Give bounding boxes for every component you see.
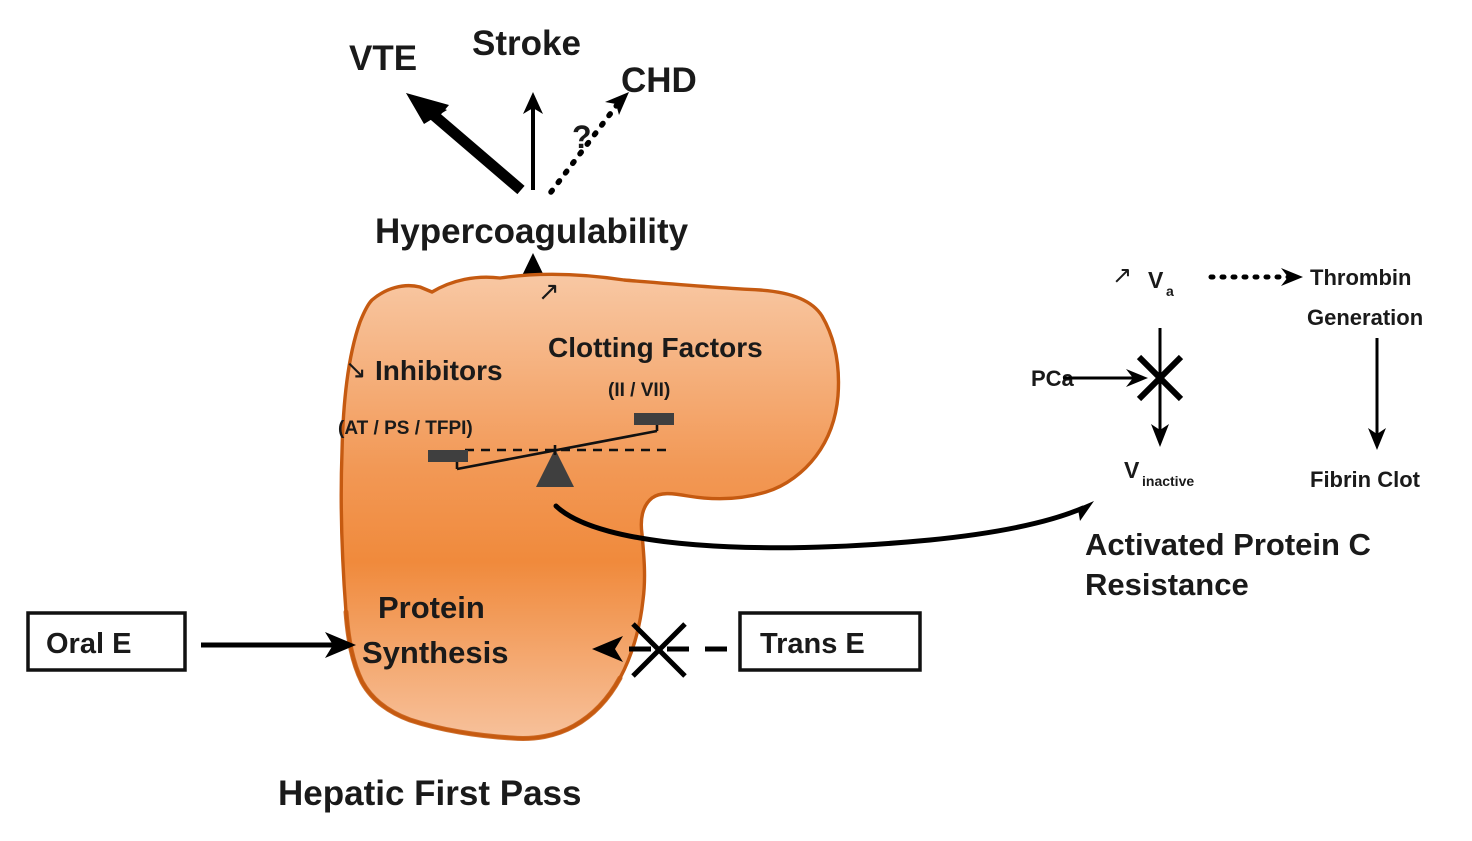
trans-e-label: Trans E [760, 628, 865, 660]
va-up-arrow: ↗ [1112, 262, 1132, 289]
thrombin-generation-line1: Thrombin [1310, 265, 1411, 290]
protein-synthesis-line2: Synthesis [362, 635, 508, 670]
thrombin-generation-line2: Generation [1307, 305, 1423, 330]
arrow-oral-e-to-protein-synthesis [201, 632, 356, 658]
v-inactive-label: V [1124, 457, 1140, 483]
clotting-factors-label: Clotting Factors [548, 332, 763, 363]
apc-resistance-title-line2: Resistance [1085, 567, 1249, 602]
diagram-canvas: VTE Stroke CHD ? Hypercoagulability ↗ Cl… [0, 0, 1472, 841]
arrow-hypercoagulability-to-stroke [523, 92, 543, 190]
clotting-factors-up-arrow: ↗ [538, 276, 560, 306]
outcome-label-stroke: Stroke [472, 24, 581, 63]
inhibitors-detail: (AT / PS / TFPI) [338, 418, 473, 439]
arrow-thrombin-to-fibrin-clot [1368, 338, 1386, 450]
arrow-hypercoagulability-to-vte [406, 93, 521, 190]
figure-caption: Hepatic First Pass [278, 774, 581, 813]
arrow-hypercoagulability-to-chd [551, 92, 629, 192]
arrow-va-to-thrombin-generation [1211, 268, 1303, 286]
v-inactive-subscript: inactive [1142, 473, 1194, 489]
va-label: V [1148, 267, 1164, 293]
arrow-pca-to-block [1063, 369, 1148, 387]
fibrin-clot-label: Fibrin Clot [1310, 467, 1421, 492]
inhibitors-label: Inhibitors [375, 355, 503, 386]
balance-pan-left [428, 450, 468, 462]
va-subscript: a [1166, 283, 1174, 299]
balance-pan-right [634, 413, 674, 425]
outcome-label-chd: CHD [621, 61, 697, 100]
hypercoagulability-label: Hypercoagulability [375, 212, 689, 251]
protein-synthesis-line1: Protein [378, 590, 485, 625]
apc-resistance-title-line1: Activated Protein C [1085, 527, 1371, 562]
hepatic-first-pass-diagram: VTE Stroke CHD ? Hypercoagulability ↗ Cl… [0, 0, 1472, 841]
clotting-factors-detail: (II / VII) [608, 380, 670, 401]
oral-e-label: Oral E [46, 628, 131, 660]
outcome-label-vte: VTE [349, 39, 417, 78]
inhibitors-down-arrow: ↘ [345, 354, 367, 384]
